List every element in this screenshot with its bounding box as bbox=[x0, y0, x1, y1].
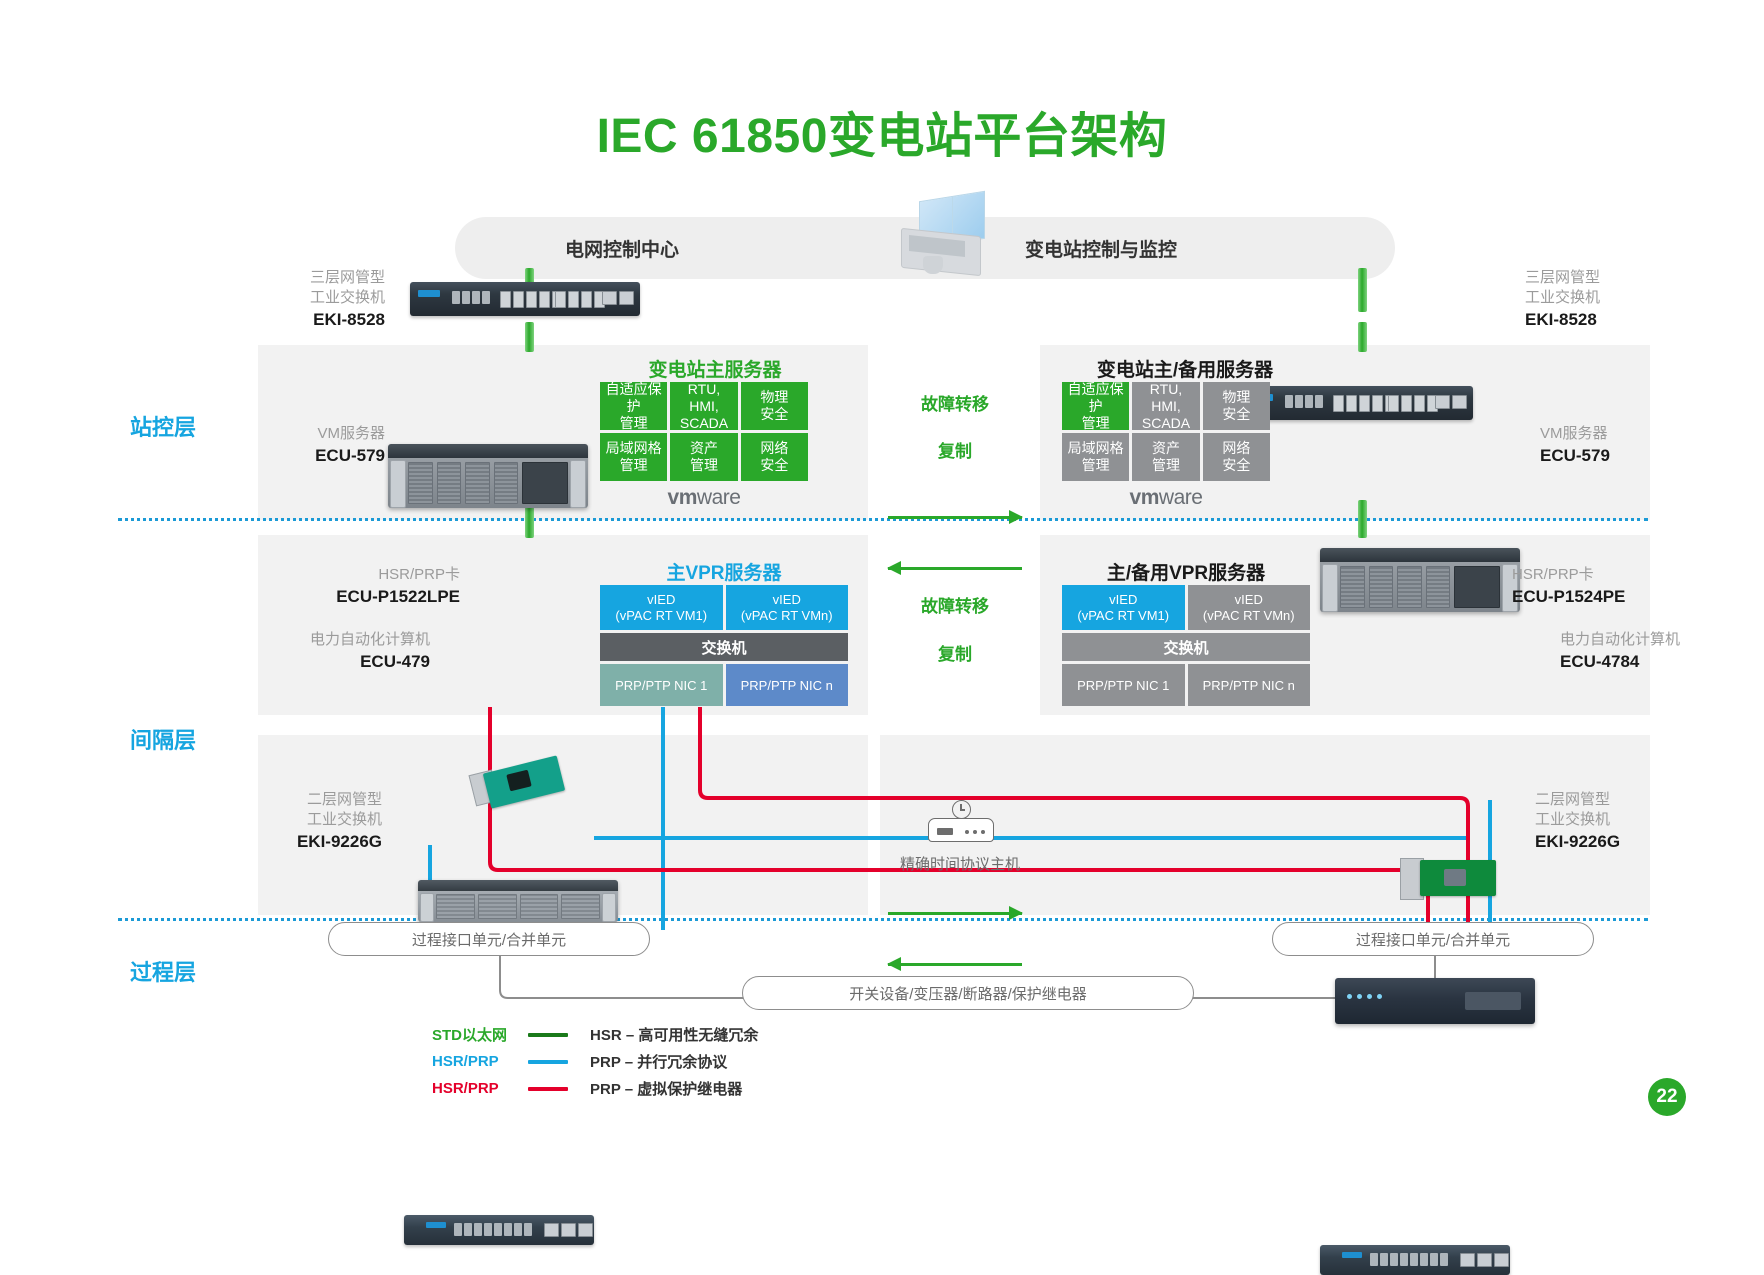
legend-swatch-std bbox=[528, 1033, 568, 1037]
separator-station-bay bbox=[118, 518, 1648, 521]
server-model: ECU-579 bbox=[1540, 446, 1660, 466]
feature-cell: 资产管理 bbox=[670, 433, 737, 481]
bay-failover-label: 故障转移 bbox=[880, 592, 1030, 617]
left-l3-switch-caption: 三层网管型 工业交换机 EKI-8528 bbox=[275, 268, 385, 330]
left-vpr-group-title: 主VPR服务器 bbox=[600, 558, 848, 585]
legend-row: STD以太网 HSR – 高可用性无缝冗余 bbox=[432, 1022, 758, 1047]
vied-box: vIED(vPAC RT VMn) bbox=[726, 585, 849, 630]
switch-caption-line2: 工业交换机 bbox=[1525, 289, 1600, 306]
right-vm-server-caption: VM服务器 ECU-579 bbox=[1540, 424, 1660, 466]
switch-caption-line2: 工业交换机 bbox=[310, 289, 385, 306]
nic-caption-line1: HSR/PRP卡 bbox=[378, 566, 460, 583]
hsr-prp-card-right bbox=[1400, 854, 1496, 902]
server-model: ECU-479 bbox=[270, 652, 430, 672]
switch-caption-line1: 三层网管型 bbox=[1525, 269, 1600, 286]
vmware-logo-right: vmware bbox=[1062, 486, 1270, 510]
feature-cell: 网络安全 bbox=[1203, 433, 1270, 481]
station-replicate-label: 复制 bbox=[880, 437, 1030, 462]
prp-ptp-nic-box: PRP/PTP NIC n bbox=[726, 664, 849, 706]
page-number-badge: 22 bbox=[1648, 1078, 1686, 1116]
legend-tag: STD以太网 bbox=[432, 1024, 524, 1045]
station-failover-arrow bbox=[888, 516, 1022, 519]
server-caption-line1: VM服务器 bbox=[317, 425, 385, 442]
nic-model: ECU-P1524PE bbox=[1512, 587, 1652, 607]
feature-cell: 网络安全 bbox=[741, 433, 808, 481]
control-console-icon bbox=[895, 196, 995, 274]
right-hsrprp-card-caption: HSR/PRP卡 ECU-P1524PE bbox=[1512, 565, 1652, 607]
legend-swatch-vpr bbox=[528, 1087, 568, 1091]
ptp-host-label: 精确时间协议主机 bbox=[845, 853, 1075, 874]
substation-control-label: 变电站控制与监控 bbox=[1025, 235, 1177, 262]
vied-row: vIED(vPAC RT VM1) vIED(vPAC RT VMn) bbox=[1062, 585, 1310, 630]
feature-cell: 局域网格管理 bbox=[1062, 433, 1129, 481]
server-ecu579-left bbox=[388, 444, 588, 508]
left-pac-computer-caption: 电力自动化计算机 ECU-479 bbox=[270, 630, 430, 672]
left-vm-server-caption: VM服务器 ECU-579 bbox=[275, 424, 385, 466]
feature-cell: 物理安全 bbox=[741, 382, 808, 430]
uplink-right-station-bay bbox=[1358, 500, 1367, 538]
left-vpr-stack: vIED(vPAC RT VM1) vIED(vPAC RT VMn) 交换机 … bbox=[600, 585, 848, 706]
nic-model: ECU-P1522LPE bbox=[330, 587, 460, 607]
uplink-right-to-station bbox=[1358, 322, 1367, 352]
prp-ptp-nic-box: PRP/PTP NIC n bbox=[1188, 664, 1311, 706]
vied-box: vIED(vPAC RT VM1) bbox=[600, 585, 723, 630]
server-caption-line1: VM服务器 bbox=[1540, 425, 1608, 442]
vied-box: vIED(vPAC RT VM1) bbox=[1062, 585, 1185, 630]
right-l3-switch-caption: 三层网管型 工业交换机 EKI-8528 bbox=[1525, 268, 1645, 330]
nic-row: PRP/PTP NIC 1 PRP/PTP NIC n bbox=[600, 664, 848, 706]
nic-row: PRP/PTP NIC 1 PRP/PTP NIC n bbox=[1062, 664, 1310, 706]
switch-caption-line1: 二层网管型 bbox=[307, 791, 382, 808]
switch-caption-line2: 工业交换机 bbox=[1535, 811, 1610, 828]
right-virtual-switch-bar: 交换机 bbox=[1062, 633, 1310, 661]
layer-label-bay: 间隔层 bbox=[130, 723, 196, 755]
switch-caption-line1: 二层网管型 bbox=[1535, 791, 1610, 808]
right-station-server-group-title: 变电站主/备用服务器 bbox=[1060, 355, 1310, 382]
switch-model: EKI-9226G bbox=[1535, 832, 1655, 852]
legend-swatch-prp bbox=[528, 1060, 568, 1064]
process-equipment-box: 开关设备/变压器/断路器/保护继电器 bbox=[742, 976, 1194, 1010]
legend-desc: HSR – 高可用性无缝冗余 bbox=[590, 1024, 758, 1045]
legend-tag: HSR/PRP bbox=[432, 1080, 524, 1097]
server-ecu4784-right bbox=[1335, 978, 1535, 1024]
separator-bay-process bbox=[118, 918, 1648, 921]
right-pac-computer-caption: 电力自动化计算机 ECU-4784 bbox=[1560, 630, 1730, 672]
ptp-clock-icon bbox=[925, 800, 995, 844]
left-hsrprp-card-caption: HSR/PRP卡 ECU-P1522LPE bbox=[330, 565, 460, 607]
layer-label-station: 站控层 bbox=[130, 410, 196, 442]
grid-control-center-label: 电网控制中心 bbox=[565, 235, 679, 262]
server-model: ECU-579 bbox=[275, 446, 385, 466]
feature-cell: 物理安全 bbox=[1203, 382, 1270, 430]
legend-row: HSR/PRP PRP – 并行冗余协议 bbox=[432, 1049, 758, 1074]
left-process-interface-box: 过程接口单元/合并单元 bbox=[328, 922, 650, 956]
server-ecu479-left bbox=[418, 880, 618, 922]
vied-row: vIED(vPAC RT VM1) vIED(vPAC RT VMn) bbox=[600, 585, 848, 630]
right-process-interface-box: 过程接口单元/合并单元 bbox=[1272, 922, 1594, 956]
switch-model: EKI-8528 bbox=[275, 310, 385, 330]
vmware-logo-left: vmware bbox=[600, 486, 808, 510]
switch-eki9226g-right bbox=[1320, 1245, 1510, 1275]
switch-eki8528-right bbox=[1243, 386, 1473, 420]
switch-caption-line2: 工业交换机 bbox=[307, 811, 382, 828]
switch-eki8528-left bbox=[410, 282, 640, 316]
left-station-feature-grid: 自适应保护管理 RTU, HMI,SCADA 物理安全 局域网格管理 资产管理 … bbox=[600, 382, 808, 481]
legend-desc: PRP – 并行冗余协议 bbox=[590, 1051, 727, 1072]
legend-desc: PRP – 虚拟保护继电器 bbox=[590, 1078, 742, 1099]
vied-box: vIED(vPAC RT VMn) bbox=[1188, 585, 1311, 630]
switch-model: EKI-9226G bbox=[272, 832, 382, 852]
right-vpr-group-title: 主/备用VPR服务器 bbox=[1062, 558, 1310, 585]
prp-ptp-nic-box: PRP/PTP NIC 1 bbox=[1062, 664, 1185, 706]
nic-caption-line1: HSR/PRP卡 bbox=[1512, 566, 1594, 583]
legend: STD以太网 HSR – 高可用性无缝冗余 HSR/PRP PRP – 并行冗余… bbox=[432, 1022, 758, 1103]
uplink-right-top bbox=[1358, 268, 1367, 312]
bay-failover-arrow bbox=[888, 912, 1022, 915]
feature-cell: 资产管理 bbox=[1132, 433, 1199, 481]
station-replicate-arrow bbox=[888, 567, 1022, 570]
left-station-server-group-title: 变电站主服务器 bbox=[600, 355, 830, 382]
legend-tag: HSR/PRP bbox=[432, 1053, 524, 1070]
feature-cell: 局域网格管理 bbox=[600, 433, 667, 481]
server-caption-line1: 电力自动化计算机 bbox=[1560, 631, 1680, 648]
left-l2-switch-caption: 二层网管型 工业交换机 EKI-9226G bbox=[272, 790, 382, 852]
feature-cell: RTU, HMI,SCADA bbox=[1132, 382, 1199, 430]
switch-model: EKI-8528 bbox=[1525, 310, 1645, 330]
left-virtual-switch-bar: 交换机 bbox=[600, 633, 848, 661]
uplink-left-to-station bbox=[525, 322, 534, 352]
hsr-prp-card-left bbox=[470, 760, 566, 808]
switch-eki9226g-left bbox=[404, 1215, 594, 1245]
prp-ptp-nic-box: PRP/PTP NIC 1 bbox=[600, 664, 723, 706]
server-model: ECU-4784 bbox=[1560, 652, 1730, 672]
switch-caption-line1: 三层网管型 bbox=[310, 269, 385, 286]
feature-cell: RTU, HMI,SCADA bbox=[670, 382, 737, 430]
feature-cell: 自适应保护管理 bbox=[600, 382, 667, 430]
right-station-feature-grid: 自适应保护管理 RTU, HMI,SCADA 物理安全 局域网格管理 资产管理 … bbox=[1062, 382, 1270, 481]
right-l2-switch-caption: 二层网管型 工业交换机 EKI-9226G bbox=[1535, 790, 1655, 852]
layer-label-process: 过程层 bbox=[130, 955, 196, 987]
page-title: IEC 61850变电站平台架构 bbox=[0, 96, 1764, 166]
bay-replicate-label: 复制 bbox=[880, 640, 1030, 665]
legend-row: HSR/PRP PRP – 虚拟保护继电器 bbox=[432, 1076, 758, 1101]
server-caption-line1: 电力自动化计算机 bbox=[310, 631, 430, 648]
right-vpr-stack: vIED(vPAC RT VM1) vIED(vPAC RT VMn) 交换机 … bbox=[1062, 585, 1310, 706]
feature-cell: 自适应保护管理 bbox=[1062, 382, 1129, 430]
bay-replicate-arrow bbox=[888, 963, 1022, 966]
server-ecu579-right bbox=[1320, 548, 1520, 612]
station-failover-label: 故障转移 bbox=[880, 390, 1030, 415]
